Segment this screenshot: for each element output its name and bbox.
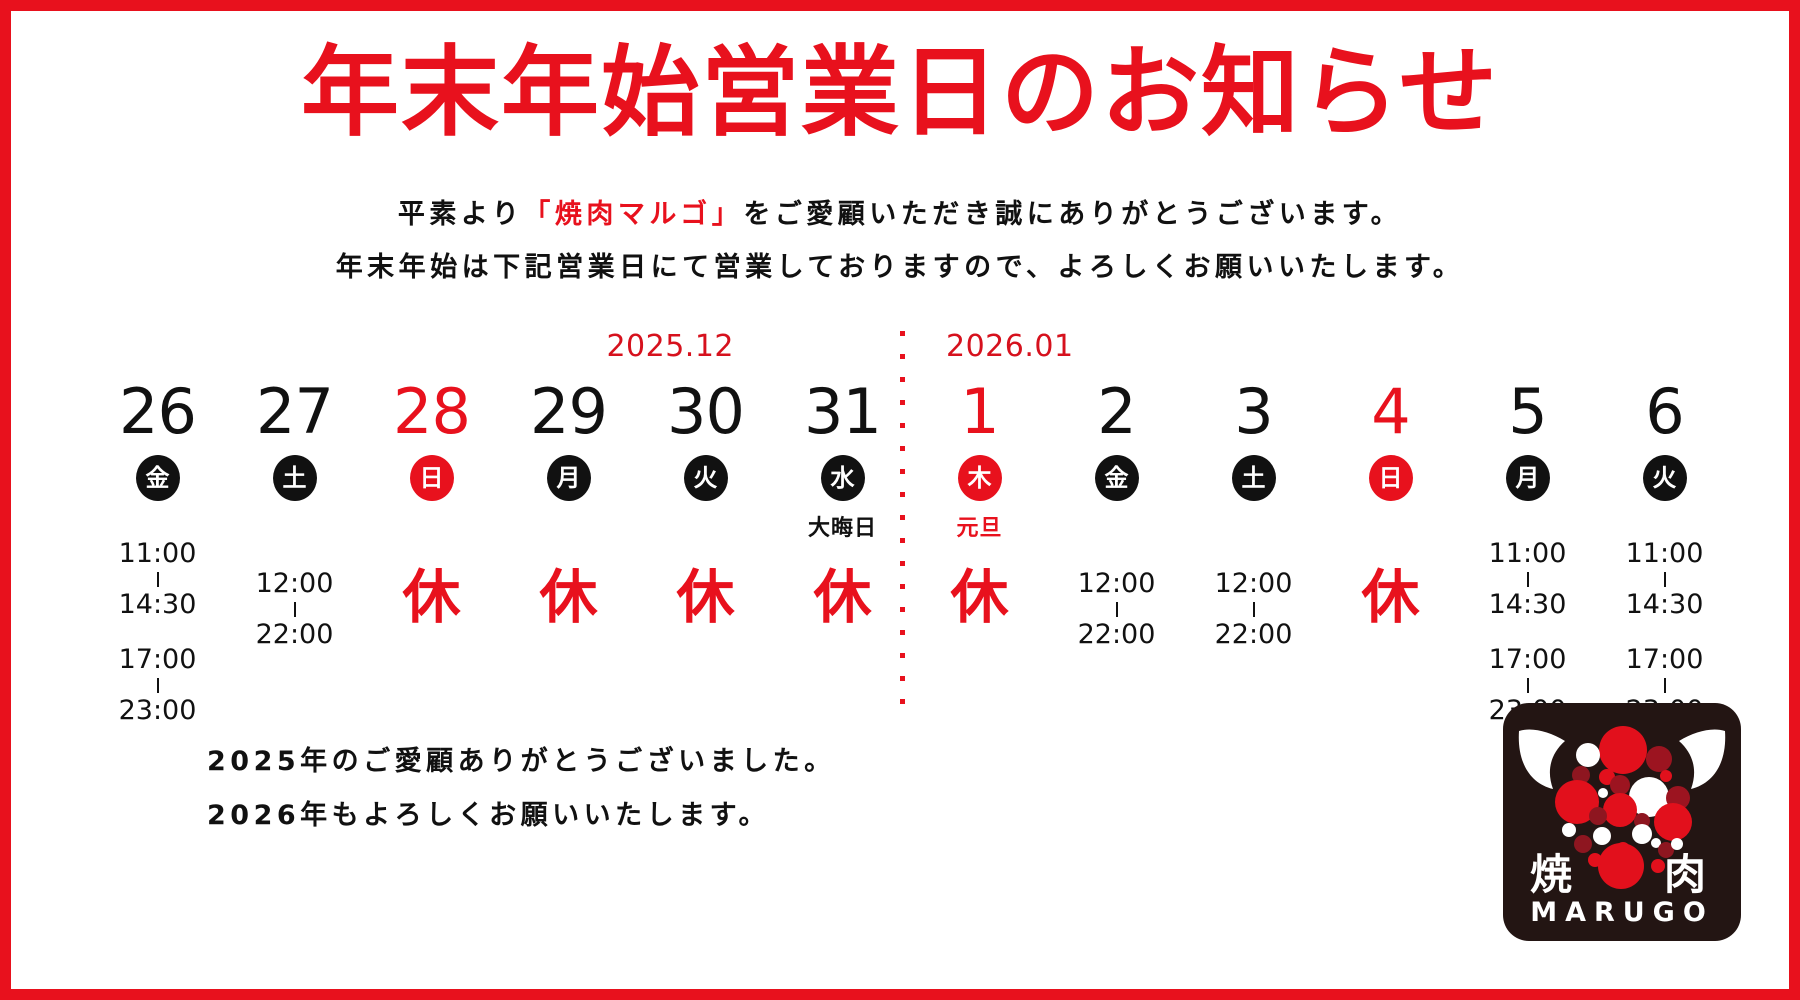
day-number: 28 [393,381,470,443]
day-number: 4 [1371,381,1409,443]
day-hours: 休 [500,568,637,626]
close-time: 22:00 [1215,621,1293,649]
closing-line-1: 2025年のご愛顧ありがとうございました。 [207,735,836,789]
weekday-badge: 日 [1369,455,1413,501]
day-number: 2 [1097,381,1135,443]
day-hours: 休 [911,568,1048,626]
calendar-day-column: 30火 休 [637,381,774,626]
day-hours: 休 [363,568,500,626]
poster-frame: 年末年始営業日のお知らせ 平素より「焼肉マルゴ」をご愛顧いただき誠にありがとうご… [0,0,1800,1000]
open-time: 17:00 [1626,646,1704,674]
calendar-day-column: 6火 11:0014:3017:0023:00 [1596,381,1733,724]
closing-paragraph: 2025年のご愛顧ありがとうございました。 2026年もよろしくお願いいたします… [207,735,836,843]
weekday-badge: 火 [684,455,728,501]
brand-name: 「焼肉マルゴ」 [523,199,743,230]
weekday-badge: 日 [410,455,454,501]
day-number: 5 [1508,381,1546,443]
month-label-january: 2026.01 [946,329,1074,364]
intro-line-1-prefix: 平素より [398,199,523,230]
page-title: 年末年始営業日のお知らせ [11,39,1789,149]
open-time: 11:00 [119,540,197,568]
open-time: 17:00 [119,646,197,674]
open-time: 11:00 [1489,540,1567,568]
poster-sheet: 年末年始営業日のお知らせ 平素より「焼肉マルゴ」をご愛顧いただき誠にありがとうご… [11,11,1789,989]
closed-badge: 休 [676,568,734,626]
weekday-badge: 土 [1232,455,1276,501]
logo-kanji-left: 焼 [1530,850,1572,899]
close-time: 14:30 [1626,591,1704,619]
time-range: 12:0022:00 [256,570,334,648]
time-range-dash [294,602,296,617]
business-hours-calendar: 26金 11:0014:3017:0023:0027土 12:0022:0028… [89,381,1733,701]
open-time: 11:00 [1626,540,1704,568]
weekday-badge: 火 [1643,455,1687,501]
day-number: 3 [1234,381,1272,443]
day-number: 27 [256,381,333,443]
closing-line-2: 2026年もよろしくお願いいたします。 [207,789,836,843]
calendar-day-column: 5月 11:0014:3017:0023:00 [1459,381,1596,724]
time-range-dash [1527,678,1529,693]
day-number: 6 [1645,381,1683,443]
close-time: 22:00 [1078,621,1156,649]
day-number: 30 [667,381,744,443]
logo-artwork: 焼 肉 MARUGO [1503,703,1741,941]
logo-kanji-right: 肉 [1664,850,1706,899]
calendar-day-column: 1木元旦休 [911,381,1048,626]
day-hours: 11:0014:3017:0023:00 [89,540,226,724]
close-time: 23:00 [119,697,197,725]
weekday-badge: 金 [1095,455,1139,501]
day-hours: 12:0022:00 [226,570,363,648]
time-range: 17:0023:00 [119,646,197,724]
open-time: 12:00 [1078,570,1156,598]
calendar-day-column: 26金 11:0014:3017:0023:00 [89,381,226,724]
bull-horn-right-icon [1679,729,1725,789]
open-time: 12:00 [256,570,334,598]
day-number: 29 [530,381,607,443]
calendar-day-column: 28日 休 [363,381,500,626]
weekday-badge: 土 [273,455,317,501]
time-range-dash [1664,678,1666,693]
weekday-badge: 木 [958,455,1002,501]
closed-badge: 休 [539,568,597,626]
calendar-day-column: 31水大晦日休 [774,381,911,626]
calendar-day-column: 3土 12:0022:00 [1185,381,1322,648]
intro-paragraph: 平素より「焼肉マルゴ」をご愛顧いただき誠にありがとうございます。 年末年始は下記… [11,189,1789,294]
day-number: 31 [804,381,881,443]
open-time: 17:00 [1489,646,1567,674]
day-number: 26 [119,381,196,443]
marugo-logo: 焼 肉 MARUGO [1503,703,1741,941]
day-hours: 休 [1322,568,1459,626]
weekday-badge: 月 [1506,455,1550,501]
intro-line-1-suffix: をご愛顧いただき誠にありがとうございます。 [743,199,1402,230]
open-time: 12:00 [1215,570,1293,598]
weekday-badge: 金 [136,455,180,501]
time-range: 11:0014:30 [1489,540,1567,618]
time-range-dash [1116,602,1118,617]
time-range-dash [1253,602,1255,617]
time-range-dash [157,678,159,693]
day-hours: 休 [637,568,774,626]
time-range-dash [1527,572,1529,587]
bull-horn-left-icon [1519,729,1565,789]
time-range: 12:0022:00 [1215,570,1293,648]
day-hours: 12:0022:00 [1185,570,1322,648]
weekday-badge: 月 [547,455,591,501]
month-label-december: 2025.12 [606,329,734,364]
day-hours: 12:0022:00 [1048,570,1185,648]
intro-line-1: 平素より「焼肉マルゴ」をご愛顧いただき誠にありがとうございます。 [11,189,1789,242]
closed-badge: 休 [813,568,871,626]
closed-badge: 休 [950,568,1008,626]
day-note: 元旦 [956,510,1002,536]
closed-badge: 休 [1361,568,1419,626]
time-range-dash [1664,572,1666,587]
time-range: 12:0022:00 [1078,570,1156,648]
weekday-badge: 水 [821,455,865,501]
close-time: 22:00 [256,621,334,649]
day-hours: 11:0014:3017:0023:00 [1459,540,1596,724]
close-time: 14:30 [1489,591,1567,619]
time-range-dash [157,572,159,587]
calendar-day-column: 29月 休 [500,381,637,626]
logo-romaji: MARUGO [1530,897,1714,928]
time-range: 11:0014:30 [119,540,197,618]
calendar-day-column: 2金 12:0022:00 [1048,381,1185,648]
intro-line-2: 年末年始は下記営業日にて営業しておりますので、よろしくお願いいたします。 [11,242,1789,295]
close-time: 14:30 [119,591,197,619]
closed-badge: 休 [402,568,460,626]
day-number: 1 [960,381,998,443]
day-note: 大晦日 [808,510,877,536]
calendar-day-column: 4日 休 [1322,381,1459,626]
day-hours: 11:0014:3017:0023:00 [1596,540,1733,724]
calendar-day-column: 27土 12:0022:00 [226,381,363,648]
time-range: 11:0014:30 [1626,540,1704,618]
day-hours: 休 [774,568,911,626]
